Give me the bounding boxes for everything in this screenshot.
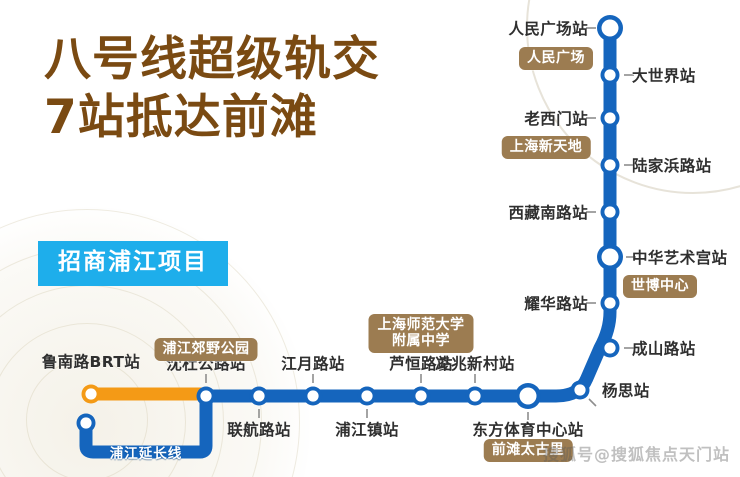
- station-label-xizang-nan-lu: 西藏南路站: [508, 201, 588, 223]
- station-marker-pujiangzhen[interactable]: [358, 387, 377, 406]
- station-marker-lujiabang-lu[interactable]: [601, 156, 620, 175]
- station-marker-dongfang-tiyu[interactable]: [515, 383, 541, 409]
- station-marker-dashijie[interactable]: [601, 66, 620, 85]
- poi-badge-renmin-guangchang: 人民广场: [519, 47, 593, 70]
- station-label-renmin-guangchang: 人民广场站: [508, 17, 588, 39]
- station-marker-jiangyue-lu[interactable]: [304, 387, 323, 406]
- watermark: 搜狐号@搜狐焦点天门站: [543, 441, 730, 465]
- station-label-lujiabang-lu: 陆家浜路站: [632, 154, 712, 176]
- station-marker-luheng-lu[interactable]: [412, 387, 431, 406]
- station-dots: [77, 15, 624, 433]
- station-marker-branch-terminus[interactable]: [77, 414, 96, 433]
- station-label-jiangyue-lu: 江月路站: [281, 352, 345, 374]
- station-label-lunan-lu-brt: 鲁南路BRT站: [42, 350, 140, 372]
- metro-line-poster: 八号线超级轨交 7站抵达前滩 招商浦江项目: [0, 0, 740, 477]
- station-marker-renmin-guangchang[interactable]: [597, 15, 623, 41]
- station-label-luheng-lu: 芦恒路站: [389, 352, 453, 374]
- station-label-dashijie: 大世界站: [632, 64, 696, 86]
- station-marker-laoximen[interactable]: [601, 109, 620, 128]
- station-label-lianhang-lu: 联航路站: [227, 418, 291, 440]
- station-marker-yangsi[interactable]: [571, 381, 590, 400]
- station-label-chengshan-lu: 成山路站: [632, 337, 696, 359]
- branch-line-label: 浦江延长线: [110, 442, 183, 462]
- station-marker-lunan-lu-brt[interactable]: [82, 385, 101, 404]
- station-marker-lianhang-lu[interactable]: [250, 387, 269, 406]
- station-marker-yaohua-lu[interactable]: [601, 294, 620, 313]
- poi-badge-luheng-lu: 上海师范大学附属中学: [369, 314, 474, 353]
- station-marker-zhonghua-yishugong[interactable]: [597, 244, 623, 270]
- station-label-dongfang-tiyu: 东方体育中心站: [472, 418, 583, 440]
- station-label-laoximen: 老西门站: [524, 107, 588, 129]
- poi-badge-shendu-gonglu: 浦江郊野公园: [155, 338, 258, 361]
- station-label-pujiangzhen: 浦江镇站: [335, 418, 399, 440]
- poi-badge-laoximen: 上海新天地: [502, 136, 591, 159]
- poi-badge-zhonghua-yishugong: 世博中心: [623, 275, 697, 298]
- metro-lines-svg: [0, 0, 740, 477]
- station-label-yangsi: 杨思站: [602, 379, 650, 401]
- station-marker-xizang-nan-lu[interactable]: [601, 203, 620, 222]
- station-label-yaohua-lu: 耀华路站: [524, 292, 588, 314]
- station-marker-shendu-gonglu[interactable]: [197, 387, 216, 406]
- station-marker-chengshan-lu[interactable]: [601, 339, 620, 358]
- station-marker-lingzhao-xincun[interactable]: [466, 387, 485, 406]
- station-label-zhonghua-yishugong: 中华艺术宫站: [632, 246, 727, 268]
- metro-map: 浦江延长线 人民广场站大世界站老西门站陆家浜路站西藏南路站中华艺术宫站耀华路站成…: [0, 0, 740, 477]
